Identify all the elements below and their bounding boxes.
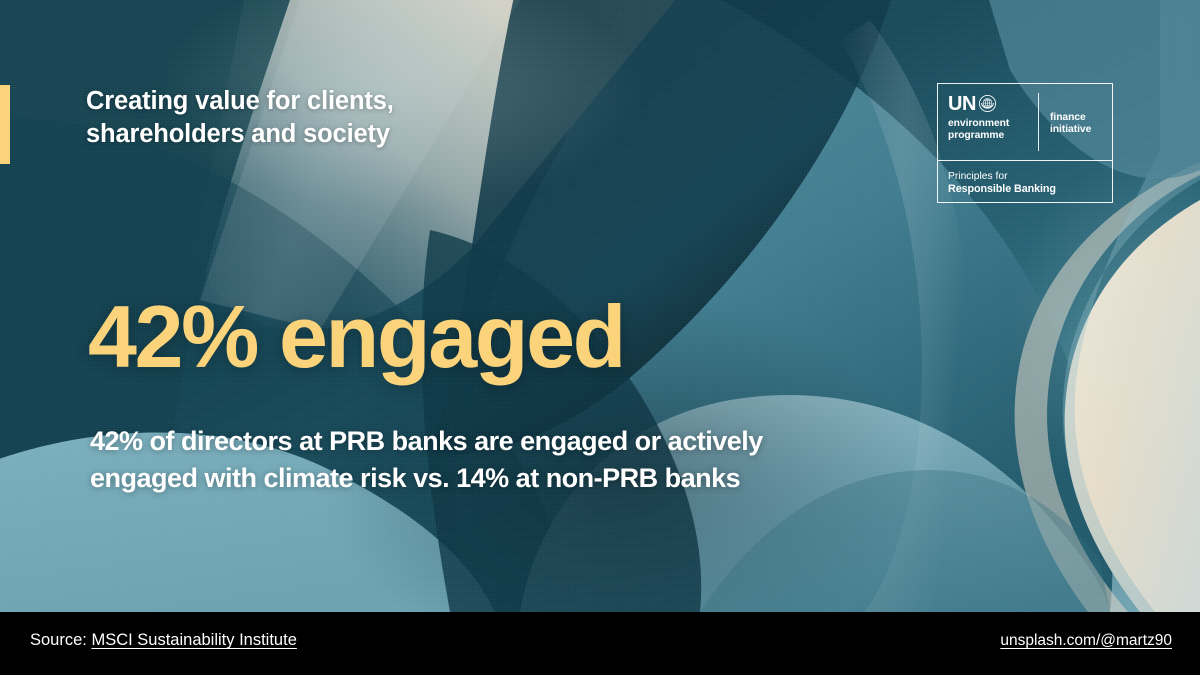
source-prefix: Source:	[30, 631, 91, 649]
finance-initiative-wordmark: finance initiative	[1037, 84, 1112, 136]
fi-line-2: initiative	[1050, 124, 1112, 136]
un-row: UN	[948, 93, 1037, 114]
un-emblem-icon	[979, 95, 996, 112]
un-wordmark: UN	[948, 94, 976, 114]
slide-canvas: Creating value for clients, shareholders…	[0, 0, 1200, 675]
fi-line-1: finance	[1050, 112, 1112, 124]
stat-description: 42% of directors at PRB banks are engage…	[90, 423, 920, 496]
stat-description-line-1: 42% of directors at PRB banks are engage…	[90, 423, 920, 460]
logo-vertical-divider	[1038, 93, 1039, 151]
logo-top-section: UN environment programm	[938, 84, 1112, 161]
stat-description-line-2: engaged with climate risk vs. 14% at non…	[90, 460, 920, 497]
source-attribution: Source: MSCI Sustainability Institute	[30, 631, 297, 650]
unep-line-2: programme	[948, 130, 1037, 142]
unep-line-1: environment	[948, 118, 1037, 130]
image-credit-link[interactable]: unsplash.com/@martz90	[1000, 632, 1172, 650]
page-title: Creating value for clients, shareholders…	[86, 85, 686, 150]
prb-lockup: Principles for Responsible Banking	[938, 161, 1112, 196]
page-title-line-1: Creating value for clients,	[86, 85, 686, 118]
stat-headline: 42% engaged	[88, 293, 624, 381]
page-title-line-2: shareholders and society	[86, 118, 686, 151]
source-link[interactable]: MSCI Sustainability Institute	[91, 631, 296, 649]
prb-line-1: Principles for	[948, 171, 1112, 183]
accent-bar	[0, 85, 10, 164]
unep-lockup: UN environment programm	[938, 84, 1037, 142]
footer-bar: Source: MSCI Sustainability Institute un…	[0, 612, 1200, 675]
unep-fi-prb-logo: UN environment programm	[937, 83, 1113, 203]
unep-wordmark: environment programme	[948, 118, 1037, 142]
prb-line-2: Responsible Banking	[948, 183, 1112, 196]
